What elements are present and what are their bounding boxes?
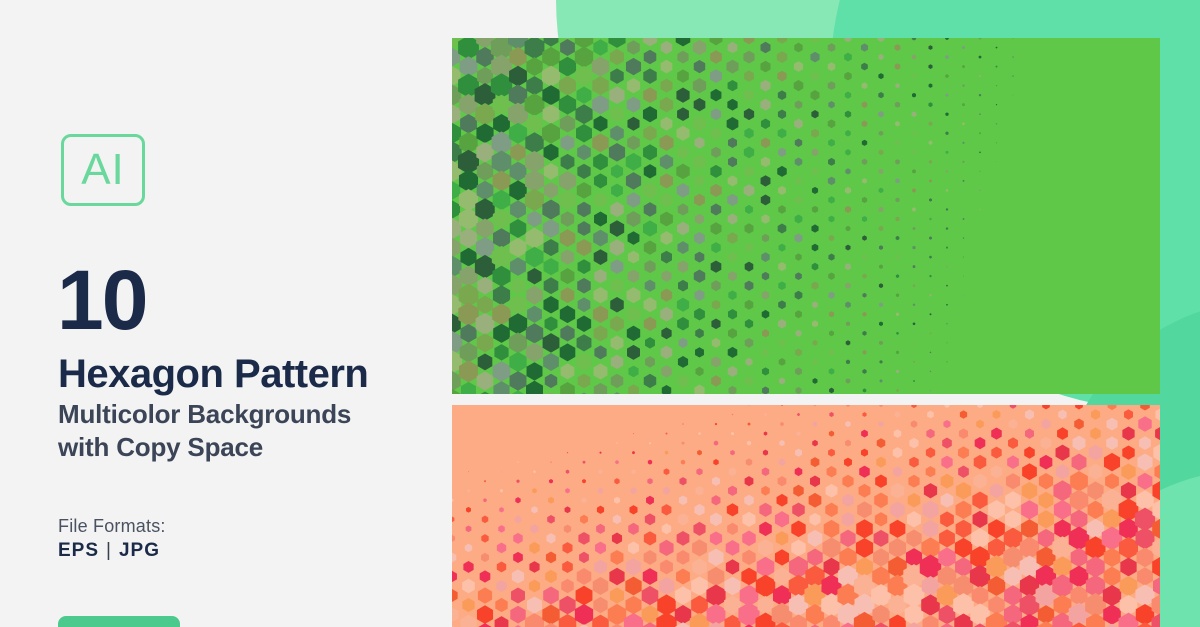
- green-hexagon-preview: [452, 38, 1160, 394]
- page-title: Hexagon Pattern: [58, 353, 368, 395]
- info-column: AI 10 Hexagon Pattern Multicolor Backgro…: [0, 0, 452, 627]
- subtitle-line-2: with Copy Space: [58, 431, 438, 464]
- format-jpg: JPG: [119, 540, 160, 561]
- format-eps: EPS: [58, 540, 99, 561]
- poster-canvas: AI 10 Hexagon Pattern Multicolor Backgro…: [0, 0, 1200, 627]
- format-separator: |: [99, 540, 119, 561]
- page-subtitle: Multicolor Backgrounds with Copy Space: [58, 398, 438, 465]
- adobe-illustrator-badge-icon: AI: [61, 134, 145, 206]
- bottom-accent-pill: [58, 616, 180, 627]
- item-count: 10: [57, 258, 146, 342]
- badge-label: AI: [81, 148, 125, 192]
- subtitle-line-1: Multicolor Backgrounds: [58, 398, 438, 431]
- orange-hexagon-preview: [452, 405, 1160, 627]
- file-formats-value: EPS|JPG: [58, 540, 160, 562]
- file-formats-label: File Formats:: [58, 516, 166, 537]
